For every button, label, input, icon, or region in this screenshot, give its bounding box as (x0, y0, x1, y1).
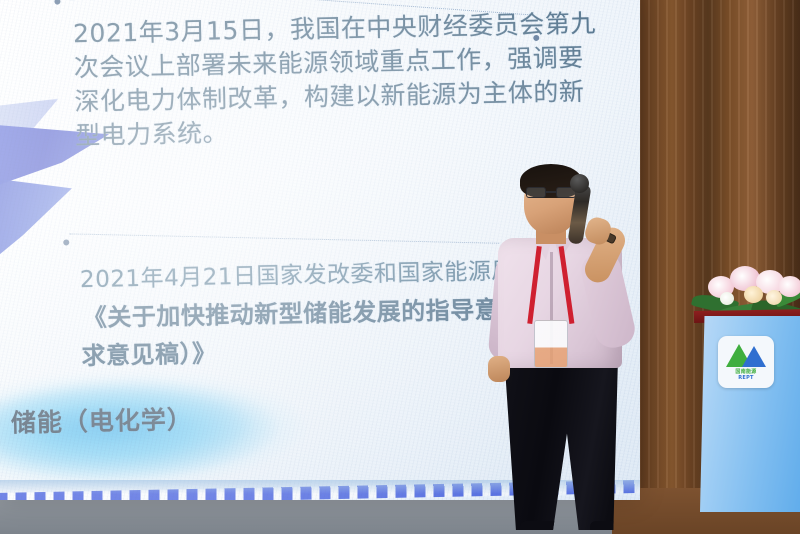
speaker-trousers (502, 358, 618, 530)
glasses-icon (526, 187, 576, 199)
speaker-left-hand (488, 356, 510, 382)
dotted-connector-dot-2 (63, 239, 69, 245)
podium-logo: 国南能源 REPT (718, 336, 774, 388)
speaker-shoe (590, 521, 636, 534)
chevron-accent-icon (0, 174, 82, 276)
presentation-photo: 构建以新能源为主体的新型电力系统” 2021年3月15日，我国在中央财经委员会第… (0, 0, 800, 534)
slide-caption: 储能（电化学） (11, 400, 194, 440)
mountain-logo-icon (726, 343, 766, 367)
slide-document-line: 2021年4月21日国家发改委和国家能源局 (80, 251, 516, 294)
slide-headline: 构建以新能源为主体的新型电力系统” (52, 0, 519, 6)
slide-paragraph-line: 型电力系统。 (75, 113, 229, 152)
speaker-shoe (520, 521, 562, 534)
slide-document-line: 求意见稿）》 (81, 333, 217, 371)
name-badge (534, 320, 568, 368)
speaker (480, 160, 660, 534)
podium-logo-line2: REPT (735, 375, 756, 381)
podium-logo-text: 国南能源 REPT (735, 369, 756, 381)
dotted-connector-line-2 (69, 233, 499, 243)
